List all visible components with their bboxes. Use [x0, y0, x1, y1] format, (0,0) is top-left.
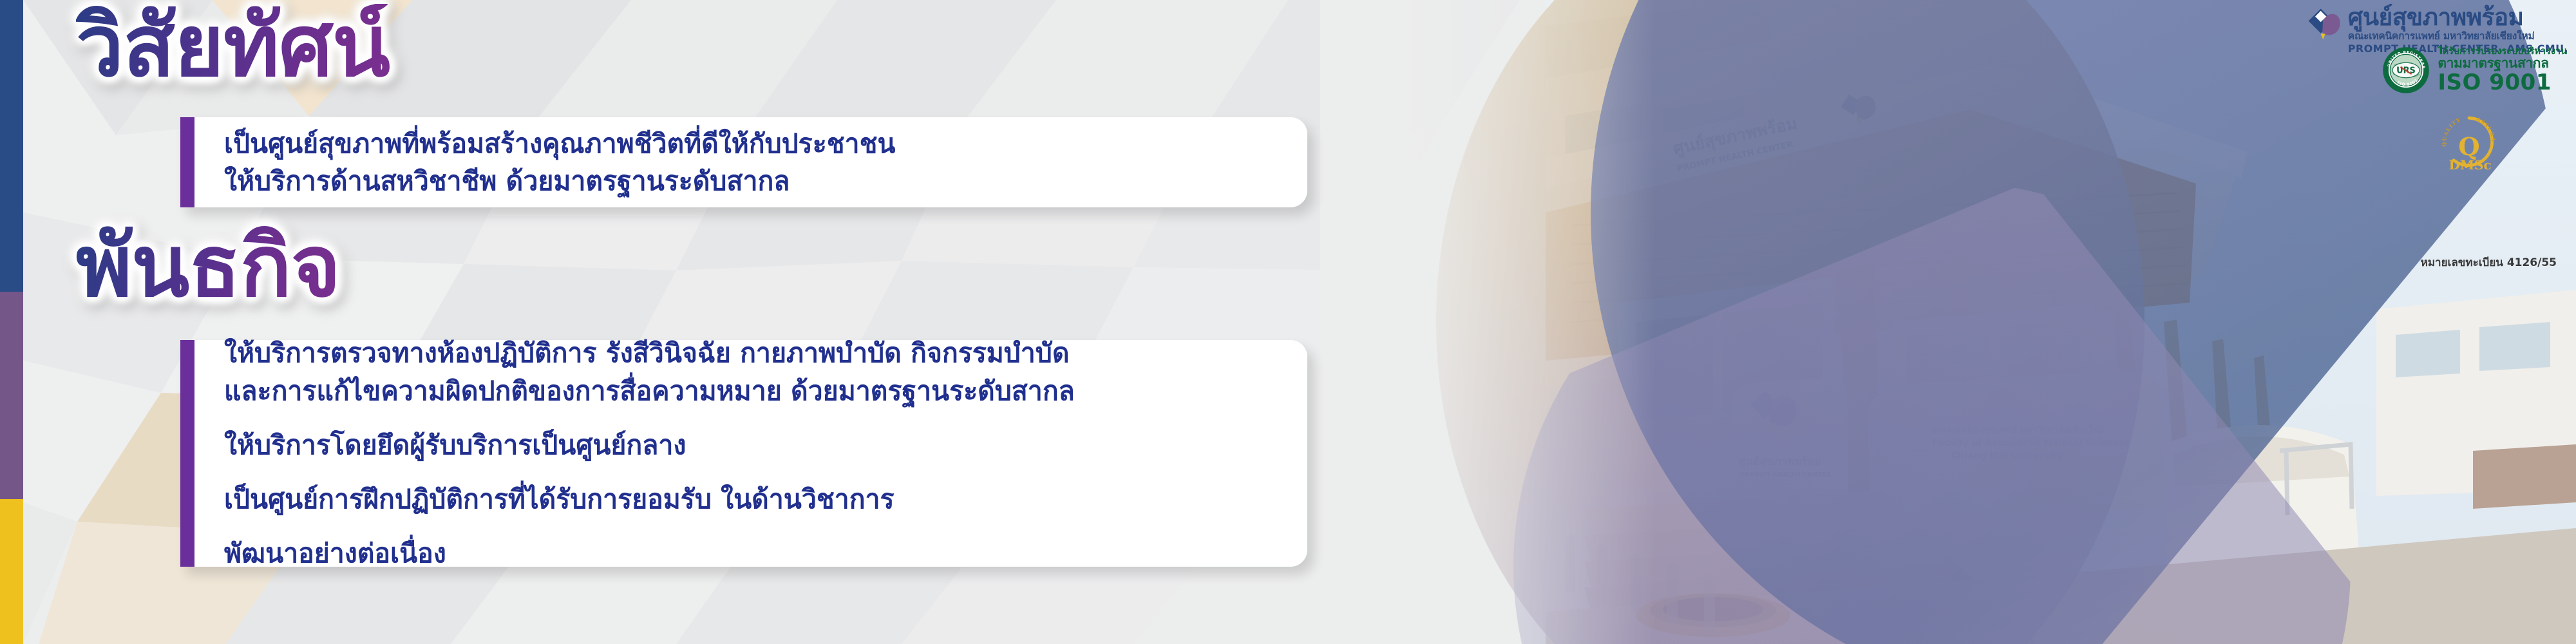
mission-line-4: เป็นศูนย์การฝึกปฏิบัติการที่ได้รับการยอม… — [224, 480, 1282, 518]
vision-mission-banner: ศูนย์สุขภาพพร้อม PROMPT HEALTH CENTER คณ… — [0, 0, 2576, 644]
mission-card-body: ให้บริการตรวจทางห้องปฏิบัติการ รังสีวินิ… — [194, 340, 1307, 567]
iso-text-block: ได้รับการรับรองระบบบริหารงาน ตามมาตรฐานส… — [2438, 47, 2567, 93]
mission-heading: พันธกิจ — [76, 224, 340, 309]
logo-mark-svg — [2307, 6, 2340, 40]
vision-heading: วิสัยทัศน์ — [76, 4, 390, 89]
urs-iso-9001-seal-icon: URS UNITED REGISTRAR OF SYSTEMS ISO 9001 — [2382, 46, 2430, 94]
mission-line-3: ให้บริการโดยยึดผู้รับบริการเป็นศูนย์กลาง — [224, 426, 1282, 464]
vision-line-1: เป็นศูนย์สุขภาพที่พร้อมสร้างคุณภาพชีวิตท… — [224, 125, 1282, 162]
vision-card-body: เป็นศูนย์สุขภาพที่พร้อมสร้างคุณภาพชีวิตท… — [194, 117, 1307, 207]
mission-line-1: ให้บริการตรวจทางห้องปฏิบัติการ รังสีวินิ… — [224, 334, 1282, 372]
rail-segment-blue — [0, 0, 23, 292]
iso-line-3: ISO 9001 — [2438, 71, 2567, 93]
rail-segment-yellow — [0, 499, 23, 644]
vision-card: เป็นศูนย์สุขภาพที่พร้อมสร้างคุณภาพชีวิตท… — [180, 117, 1307, 207]
vertical-color-rail — [0, 0, 23, 644]
q-badge-bottom-text: DMSc — [2449, 157, 2492, 173]
prompt-health-center-logo-icon — [2307, 6, 2340, 40]
brand-subtitle-th: คณะเทคนิคการแพทย์ มหาวิทยาลัยเชียงใหม่ — [2348, 32, 2568, 42]
iso-line-2: ตามมาตรฐานสากล — [2438, 57, 2567, 70]
photo-left-fade — [1320, 0, 1655, 644]
rail-segment-purple — [0, 292, 23, 499]
q-badge-svg: Q QUALITY ASSURANCE DMSc — [2438, 111, 2500, 173]
mission-line-2: และการแก้ไขความผิดปกติของการสื่อความหมาย… — [224, 372, 1282, 410]
brand-title-th: ศูนย์สุขภาพพร้อม — [2348, 5, 2568, 29]
mission-line-5: พัฒนาอย่างต่อเนื่อง — [224, 535, 1282, 572]
urs-seal-svg: URS UNITED REGISTRAR OF SYSTEMS ISO 9001 — [2382, 46, 2430, 94]
dmsc-registration-number: หมายเลขทะเบียน 4126/55 — [2421, 254, 2557, 271]
mission-card: ให้บริการตรวจทางห้องปฏิบัติการ รังสีวินิ… — [180, 340, 1307, 567]
mission-card-accent-bar — [180, 340, 194, 567]
vision-card-accent-bar — [180, 117, 194, 207]
dmsc-quality-assurance-seal-icon: Q QUALITY ASSURANCE DMSc — [2438, 111, 2500, 173]
iso-certification-row: URS UNITED REGISTRAR OF SYSTEMS ISO 9001… — [2382, 46, 2567, 94]
vision-line-2: ให้บริการด้านสหวิชาชีพ ด้วยมาตรฐานระดับส… — [224, 162, 1282, 200]
